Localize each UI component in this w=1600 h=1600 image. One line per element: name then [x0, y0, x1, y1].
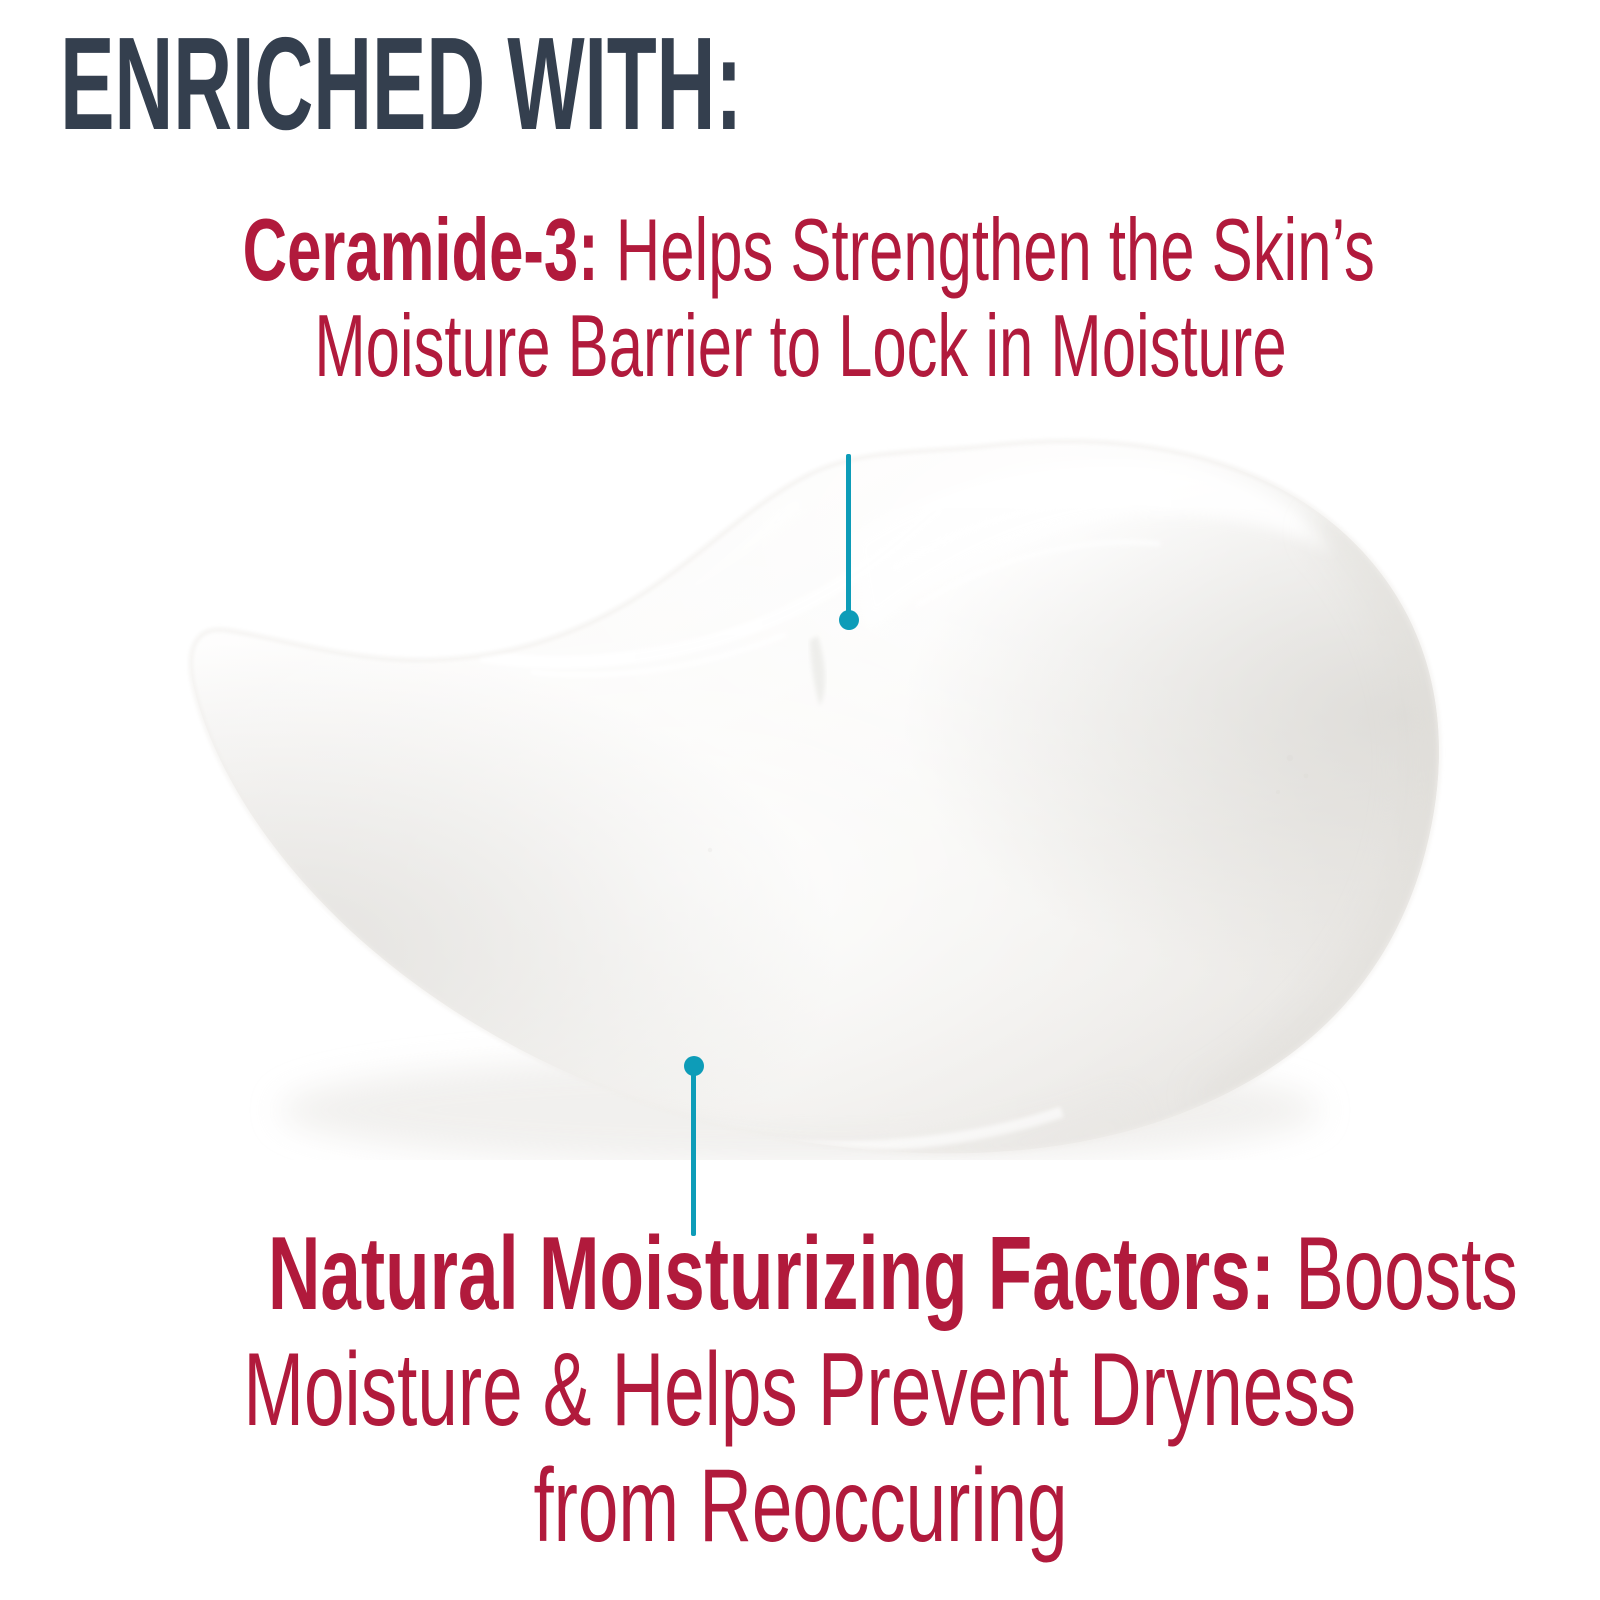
ingredient-benefit: Boosts [1275, 1216, 1518, 1332]
cream-swatch-highlight-ridge [480, 506, 940, 662]
ingredient-callout-nmf: Natural Moisturizing Factors: Boosts Moi… [0, 1222, 1600, 1570]
pointer-dot-top [839, 610, 859, 630]
pointer-line-bottom [691, 1056, 697, 1238]
ingredient-callout-ceramide: Ceramide-3: Helps Strengthen the Skin’s … [0, 206, 1600, 398]
callout-line: Ceramide-3: Helps Strengthen the Skin’s [0, 206, 1600, 302]
cream-swatch-shadow [280, 1054, 1320, 1160]
pointer-dot-bottom [684, 1056, 704, 1076]
infographic-canvas: ENRICHED WITH: [0, 0, 1600, 1600]
callout-line: Moisture Barrier to Lock in Moisture [0, 302, 1600, 398]
pointer-stem-bottom [691, 1070, 696, 1236]
ingredient-benefit-cont2: from Reoccuring [533, 1448, 1067, 1564]
callout-line: Moisture & Helps Prevent Dryness [0, 1338, 1600, 1454]
cream-swatch-body [191, 441, 1439, 1153]
page-title: ENRICHED WITH: [60, 18, 978, 150]
ingredient-benefit: Helps Strengthen the Skin’s [599, 200, 1375, 299]
ingredient-name: Natural Moisturizing Factors: [268, 1216, 1275, 1332]
ingredient-benefit-cont: Moisture Barrier to Lock in Moisture [314, 296, 1286, 395]
ingredient-name: Ceramide-3: [243, 200, 599, 299]
cream-swatch-highlight-top [850, 461, 1336, 632]
cream-swatch-highlight-bottom [246, 928, 1062, 1147]
cream-swatch-graphic [150, 420, 1470, 1160]
ingredient-benefit-cont: Moisture & Helps Prevent Dryness [244, 1332, 1357, 1448]
cream-swatch [150, 420, 1470, 1160]
cream-swatch-outline [191, 441, 1439, 1153]
pointer-line-top [846, 454, 852, 636]
callout-line: from Reoccuring [0, 1454, 1600, 1570]
pointer-stem-top [846, 454, 851, 620]
callout-line: Natural Moisturizing Factors: Boosts [0, 1222, 1600, 1338]
